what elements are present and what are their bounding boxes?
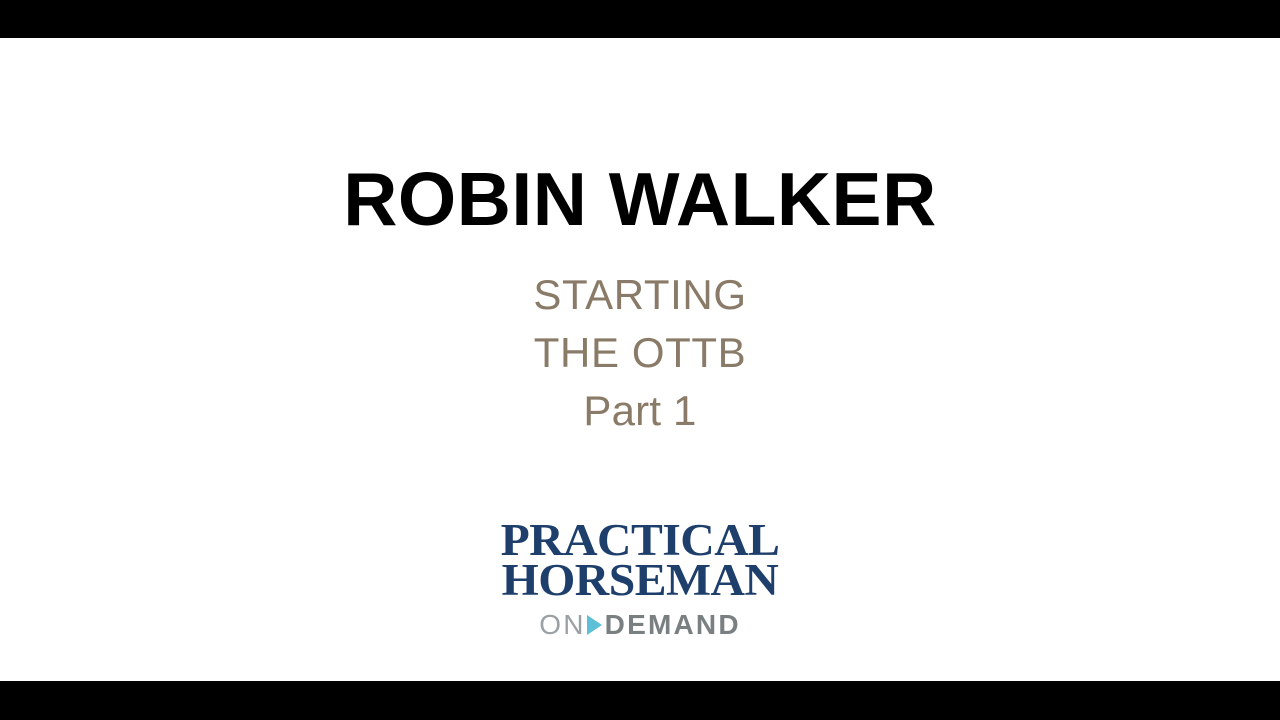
letterbox-bar-top: [0, 0, 1280, 38]
on-demand-label-demand: DEMAND: [605, 610, 741, 640]
video-title-card-frame: ROBIN WALKER STARTING THE OTTB Part 1 PR…: [0, 0, 1280, 720]
letterbox-bar-bottom: [0, 681, 1280, 720]
subtitle-line-1: STARTING: [0, 266, 1280, 324]
logo-wordmark-horseman: HORSEMAN: [0, 560, 1280, 600]
logo-wordmark-practical: PRACTICAL: [0, 520, 1280, 560]
subtitle-line-3: Part 1: [0, 382, 1280, 440]
subtitle-block: STARTING THE OTTB Part 1: [0, 266, 1280, 440]
presenter-name: ROBIN WALKER: [0, 159, 1280, 239]
practical-horseman-on-demand-logo: PRACTICAL HORSEMAN ON DEMAND: [0, 520, 1280, 640]
title-card-canvas: ROBIN WALKER STARTING THE OTTB Part 1 PR…: [0, 38, 1280, 681]
on-demand-lockup: ON DEMAND: [0, 610, 1280, 640]
play-triangle-icon: [587, 615, 602, 635]
on-demand-label-on: ON: [539, 610, 585, 640]
subtitle-line-2: THE OTTB: [0, 324, 1280, 382]
